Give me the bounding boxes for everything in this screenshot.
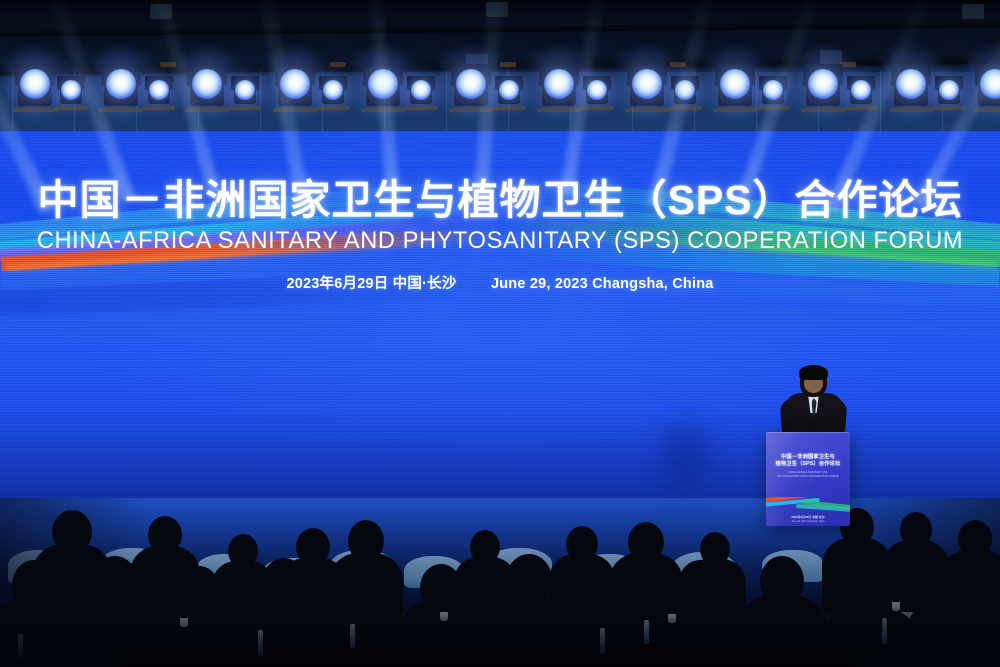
- event-date-line: 2023年6月29日 中国·长沙 June 29, 2023 Changsha,…: [0, 272, 1000, 293]
- speaker-hair: [799, 365, 828, 380]
- podium-lectern: 中国－非洲国家卫生与 植物卫生（SPS）合作论坛 CHINA-AFRICA SA…: [766, 432, 850, 526]
- spotlight-beam-2: [147, 0, 220, 197]
- podium-title-en-line2: PHYTOSANITARY (SPS) COOPERATION FORUM: [768, 475, 848, 479]
- water-bottle-4: [882, 618, 887, 644]
- podium-title-cn-line2: 植物卫生（SPS）合作论坛: [766, 461, 850, 468]
- podium-date-chinese: 2023年6月29日 中国·长沙: [766, 515, 850, 519]
- water-bottle-5: [18, 634, 23, 658]
- water-bottle-1: [350, 624, 355, 648]
- event-date-english: June 29, 2023 Changsha, China: [491, 276, 714, 292]
- event-date-chinese: 2023年6月29日 中国·长沙: [286, 276, 456, 292]
- spotlight-beam-6: [560, 0, 610, 196]
- podium-date-english: June 29, 2023 Changsha, China: [766, 521, 850, 524]
- attendee-head-front-4: [438, 616, 492, 667]
- paper-cup-3: [892, 602, 900, 611]
- paper-cup-2: [668, 614, 676, 623]
- spotlight-beam-5: [474, 0, 505, 200]
- podium-title-english: CHINA-AFRICA SANITARY AND PHYTOSANITARY …: [768, 471, 848, 479]
- attendee-head-front-6: [648, 612, 704, 667]
- water-bottle-0: [258, 630, 263, 656]
- event-title-english: CHINA-AFRICA SANITARY AND PHYTOSANITARY …: [18, 226, 983, 256]
- spotlight-beam-8: [736, 0, 826, 202]
- event-title-block: 中国－非洲国家卫生与植物卫生（SPS）合作论坛 CHINA-AFRICA SAN…: [0, 176, 1000, 293]
- podium-title-chinese: 中国－非洲国家卫生与 植物卫生（SPS）合作论坛: [766, 454, 850, 469]
- spotlight-beam-1: [40, 0, 135, 202]
- water-bottle-2: [600, 628, 605, 654]
- speaker-and-podium: 中国－非洲国家卫生与 植物卫生（SPS）合作论坛 CHINA-AFRICA SA…: [756, 366, 860, 526]
- water-bottle-3: [644, 620, 649, 644]
- speaker-cast-shadow: [640, 398, 732, 526]
- event-title-chinese: 中国－非洲国家卫生与植物卫生（SPS）合作论坛: [0, 176, 1000, 224]
- conference-photo: 中国－非洲国家卫生与植物卫生（SPS）合作论坛 CHINA-AFRICA SAN…: [0, 0, 1000, 667]
- paper-cup-1: [440, 612, 448, 621]
- spotlight-beam-4: [366, 0, 399, 191]
- paper-cup-0: [180, 618, 188, 627]
- podium-ribbon-graphic: [766, 497, 850, 512]
